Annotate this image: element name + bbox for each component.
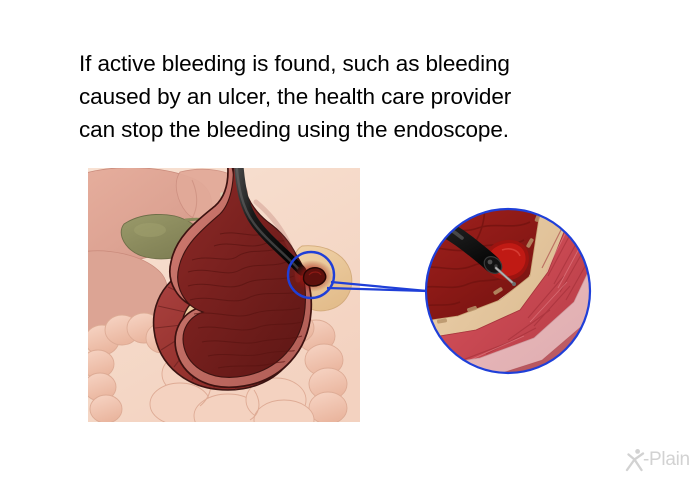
brand-logo: -Plain [625,448,691,472]
caption-line-1: If active bleeding is found, such as ble… [79,47,619,80]
caption-line-2: caused by an ulcer, the health care prov… [79,80,619,113]
caption-line-3: can stop the bleeding using the endoscop… [79,113,619,146]
brand-wordmark: -Plain [643,449,690,471]
ulcer-highlight-circle [284,248,338,302]
page-title: If active bleeding is found, such as ble… [79,47,619,146]
slide-canvas: If active bleeding is found, such as ble… [0,0,700,480]
magnified-detail-view [424,206,592,376]
